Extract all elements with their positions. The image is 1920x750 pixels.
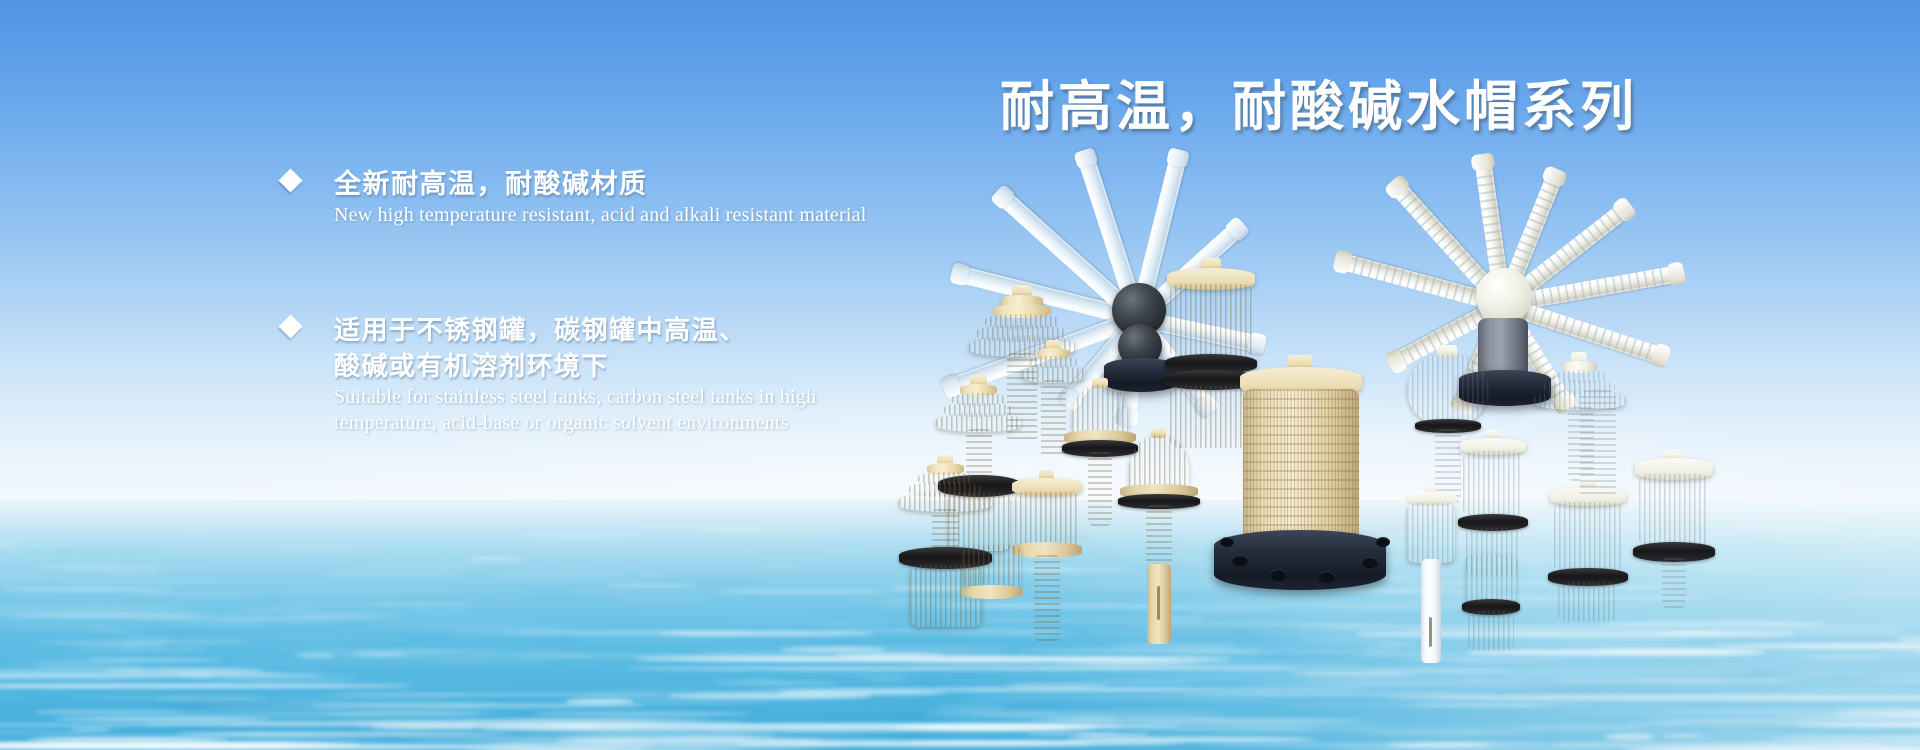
feature-bullet-1: 全新耐高温，耐酸碱材质 New high temperature resista… <box>282 166 866 228</box>
flange-bolt-hole <box>1220 537 1234 547</box>
feature-2-en-line1: Suitable for stainless steel tanks, carb… <box>334 385 816 410</box>
filter-lower-body <box>1170 386 1252 448</box>
filter-lower-body <box>1558 582 1618 622</box>
feature-bullet-1-text: 全新耐高温，耐酸碱材质 New high temperature resista… <box>334 166 866 228</box>
filter-stem <box>1662 558 1686 608</box>
filter-body <box>1554 502 1622 572</box>
feature-bullet-2: 适用于不锈钢罐，碳钢罐中高温、 酸碱或有机溶剂环境下 Suitable for … <box>282 312 816 436</box>
nozzle-base <box>961 585 1023 599</box>
nozzle-stem <box>1088 452 1112 526</box>
feature-bullet-2-text: 适用于不锈钢罐，碳钢罐中高温、 酸碱或有机溶剂环境下 Suitable for … <box>334 312 816 436</box>
flange-bolt-hole <box>1232 555 1248 566</box>
filter-pleat-body <box>1243 389 1359 539</box>
feature-2-zh-line2: 酸碱或有机溶剂环境下 <box>334 348 816 384</box>
diamond-bullet-icon <box>278 168 302 192</box>
feature-1-zh: 全新耐高温，耐酸碱材质 <box>334 166 866 202</box>
feature-2-zh-line1: 适用于不锈钢罐，碳钢罐中高温、 <box>334 312 816 348</box>
filter-body <box>1170 284 1252 358</box>
nozzle-dome <box>1407 354 1489 426</box>
sleeve-body <box>1580 390 1616 498</box>
banner-title: 耐高温，耐酸碱水帽系列 <box>1000 62 1638 141</box>
nozzle-slot <box>1157 586 1160 620</box>
diamond-bullet-icon <box>278 314 302 338</box>
nozzle-slot-tube <box>1421 559 1441 663</box>
flange-bolt-hole <box>1318 571 1335 583</box>
feature-1-en: New high temperature resistant, acid and… <box>334 203 866 228</box>
nozzle-stem <box>966 429 992 481</box>
nozzle-stem <box>1146 505 1172 567</box>
nozzle-body <box>1466 555 1516 603</box>
flange-bolt-hole <box>1270 569 1287 581</box>
nozzle-body <box>1407 503 1455 563</box>
product-banner: 耐高温，耐酸碱水帽系列 全新耐高温，耐酸碱材质 New high tempera… <box>0 0 1920 750</box>
filter-body <box>1639 474 1709 546</box>
flange-bolt-hole <box>1362 557 1378 568</box>
nozzle-lower-body <box>1468 611 1514 651</box>
nozzle-slot <box>1429 617 1432 647</box>
filter-body <box>1463 451 1523 517</box>
nozzle-body <box>1015 492 1079 548</box>
flange-bolt-hole <box>1376 537 1390 547</box>
strainer-hub <box>1476 268 1532 324</box>
nozzle-stem <box>1034 555 1060 641</box>
feature-2-en-line2: temperature, acid-base or organic solven… <box>334 411 816 436</box>
